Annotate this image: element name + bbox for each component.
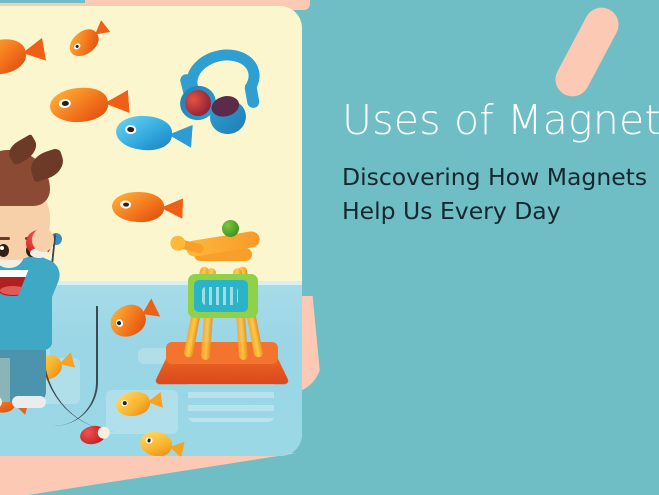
boy-legs (0, 344, 46, 402)
fish-eye (59, 99, 71, 109)
fish-eye (120, 200, 131, 208)
fish-icon (65, 24, 104, 61)
boy-hand (32, 228, 54, 252)
fish-eye (125, 125, 137, 135)
fish-body (0, 36, 29, 79)
headphones-icon (178, 50, 266, 126)
fishing-crane-toy (170, 218, 278, 393)
fish-body (49, 86, 109, 124)
fish-icon (115, 114, 173, 152)
illustration-card (0, 6, 302, 456)
boy-eyebrow (0, 237, 10, 240)
fish-icon (114, 390, 151, 418)
boy-eye (0, 244, 9, 257)
slide-title: Uses of Magnets (342, 96, 659, 144)
text-column: Uses of Magnets Discovering How Magnets … (340, 0, 659, 495)
fish-body (111, 191, 164, 223)
fish-icon (0, 36, 29, 79)
fish-eye (121, 400, 129, 407)
presentation-slide: Uses of Magnets Discovering How Magnets … (0, 0, 659, 495)
fish-body (115, 114, 173, 152)
teal-strip-decoration (0, 0, 85, 3)
toy-panel (188, 274, 258, 318)
toy-knob (222, 220, 239, 237)
toy-screen (194, 280, 248, 312)
fish-eye (145, 437, 153, 444)
headphone-earcup (206, 96, 249, 138)
fish-icon (111, 191, 164, 223)
fish-icon (49, 86, 109, 124)
boy-character (0, 146, 80, 386)
slide-subtitle: Discovering How Magnets Help Us Every Da… (342, 160, 659, 228)
fish-eye (73, 42, 82, 50)
boy-shoe (12, 396, 46, 408)
fish-body (114, 390, 151, 418)
